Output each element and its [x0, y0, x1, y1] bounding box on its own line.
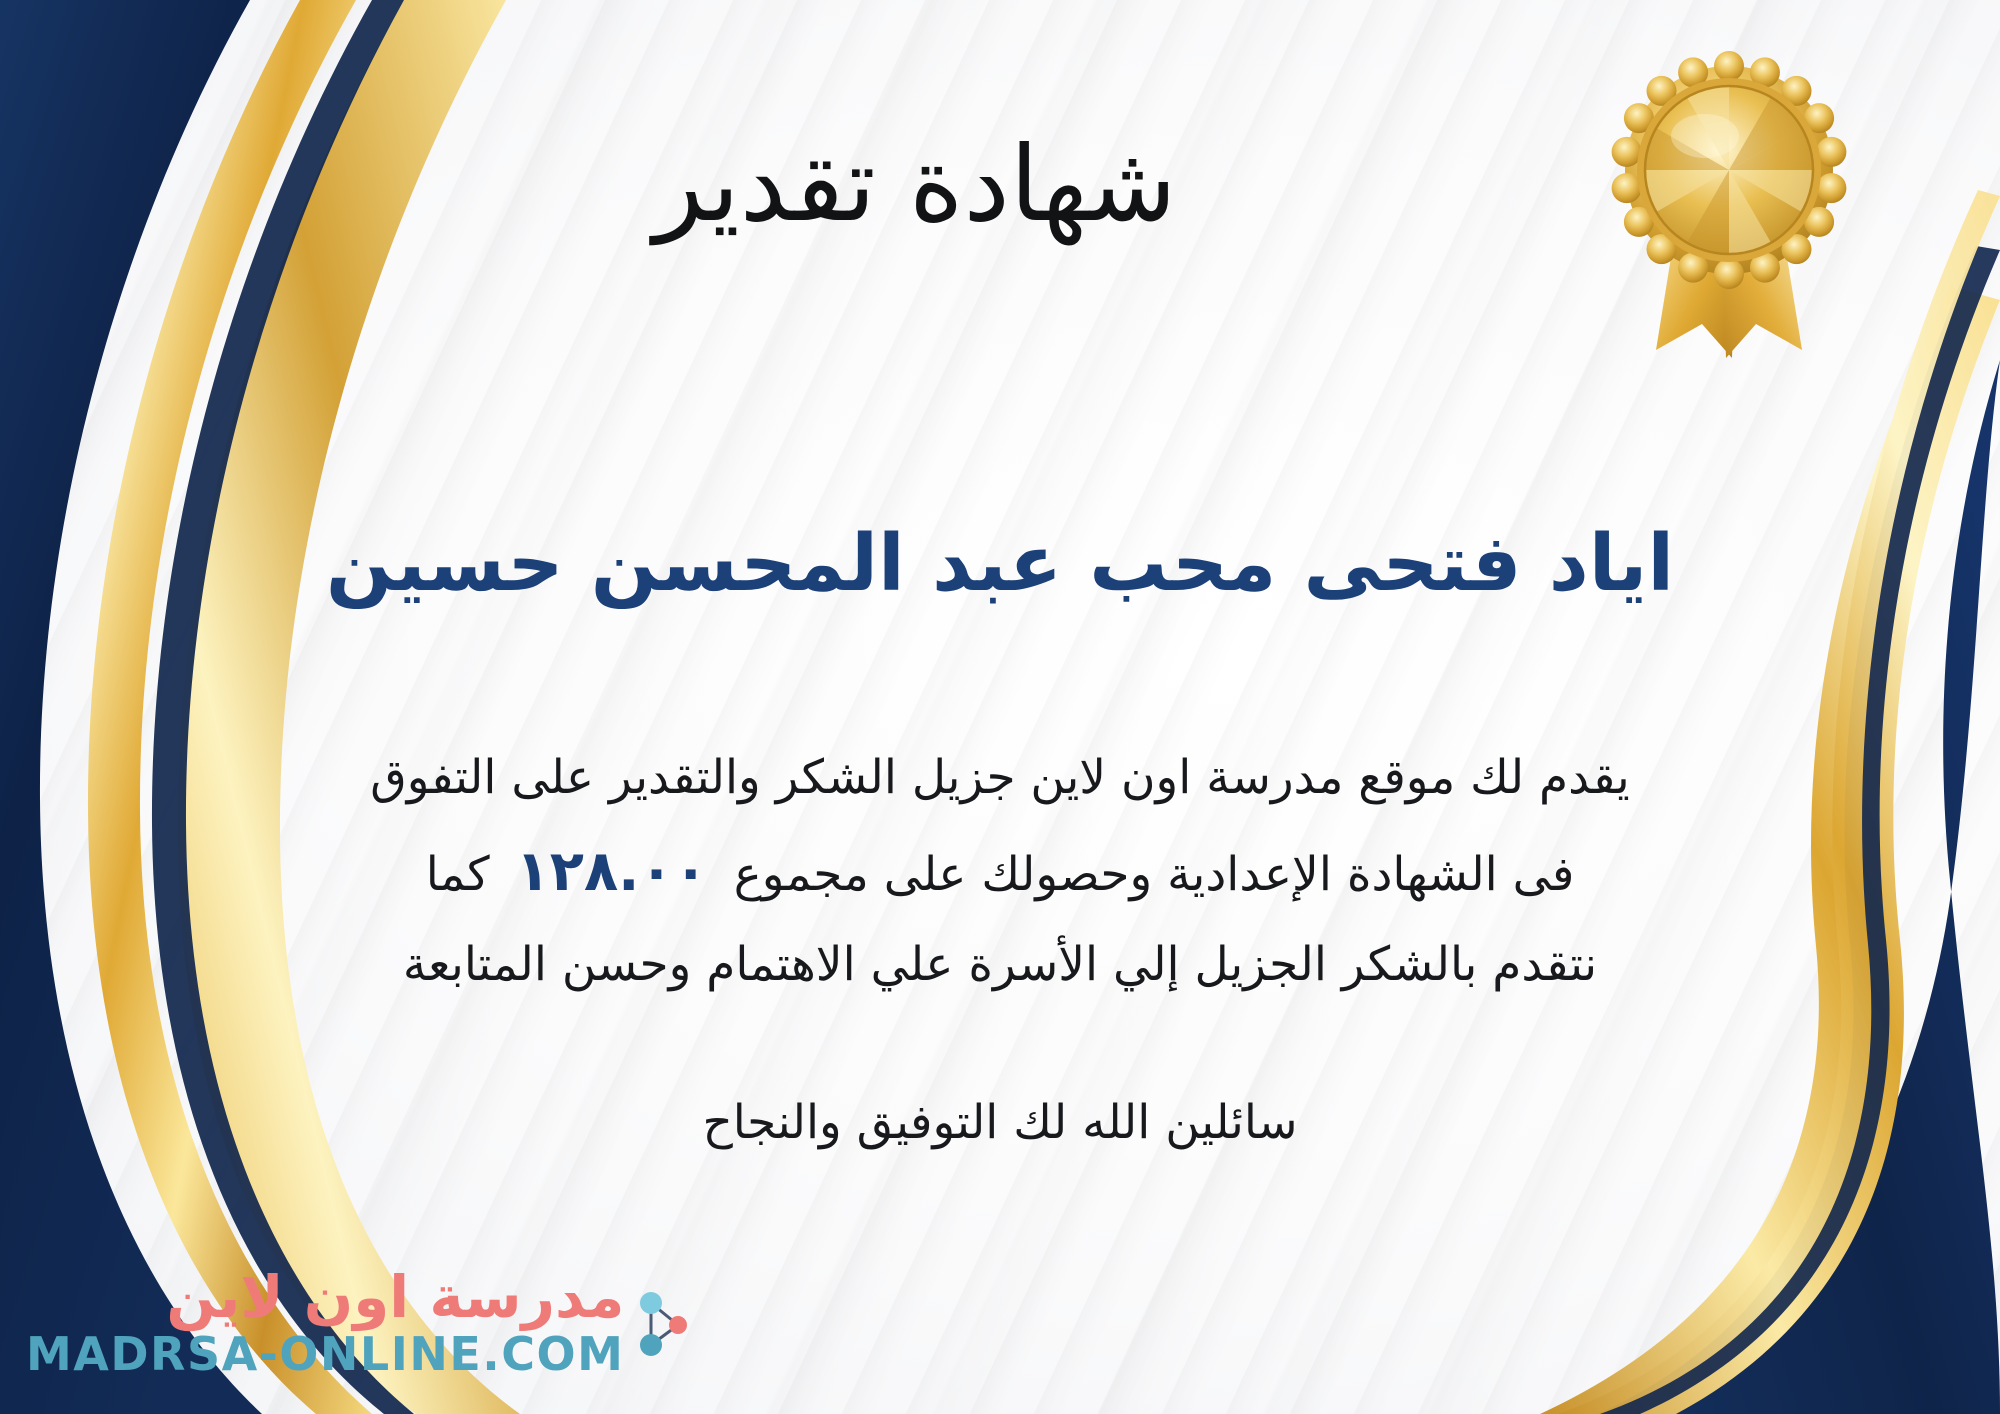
network-nodes-icon — [634, 1285, 696, 1359]
certificate-content: شهادة تقدير اياد فتحى محب عبد المحسن حسي… — [0, 0, 2000, 1414]
body-line-3: نتقدم بالشكر الجزيل إلي الأسرة علي الاهت… — [60, 922, 1940, 1008]
body-line-2: فى الشهادة الإعدادية وحصولك على مجموع١٢٨… — [60, 821, 1940, 923]
body-line-2-prefix: فى الشهادة الإعدادية وحصولك على مجموع — [734, 847, 1575, 902]
certificate-title: شهادة تقدير — [0, 130, 2000, 239]
body-line-2-suffix: كما — [426, 847, 490, 902]
recipient-name: اياد فتحى محب عبد المحسن حسين — [0, 520, 2000, 610]
certificate-page: شهادة تقدير اياد فتحى محب عبد المحسن حسي… — [0, 0, 2000, 1414]
body-line-1: يقدم لك موقع مدرسة اون لاين جزيل الشكر و… — [60, 735, 1940, 821]
brand-arabic-name: مدرسة اون لاين — [26, 1267, 624, 1328]
closing-wish: سائلين الله لك التوفيق والنجاح — [0, 1085, 2000, 1160]
brand-website: MADRSA-ONLINE.COM — [26, 1330, 624, 1378]
brand-row: مدرسة اون لاين MADRSA-ONLINE.COM — [26, 1267, 696, 1378]
brand-logo[interactable]: مدرسة اون لاين MADRSA-ONLINE.COM — [26, 1267, 696, 1378]
score-value: ١٢٨.٠٠ — [490, 839, 734, 904]
certificate-body: يقدم لك موقع مدرسة اون لاين جزيل الشكر و… — [0, 735, 2000, 1008]
brand-text-group: مدرسة اون لاين MADRSA-ONLINE.COM — [26, 1267, 624, 1378]
